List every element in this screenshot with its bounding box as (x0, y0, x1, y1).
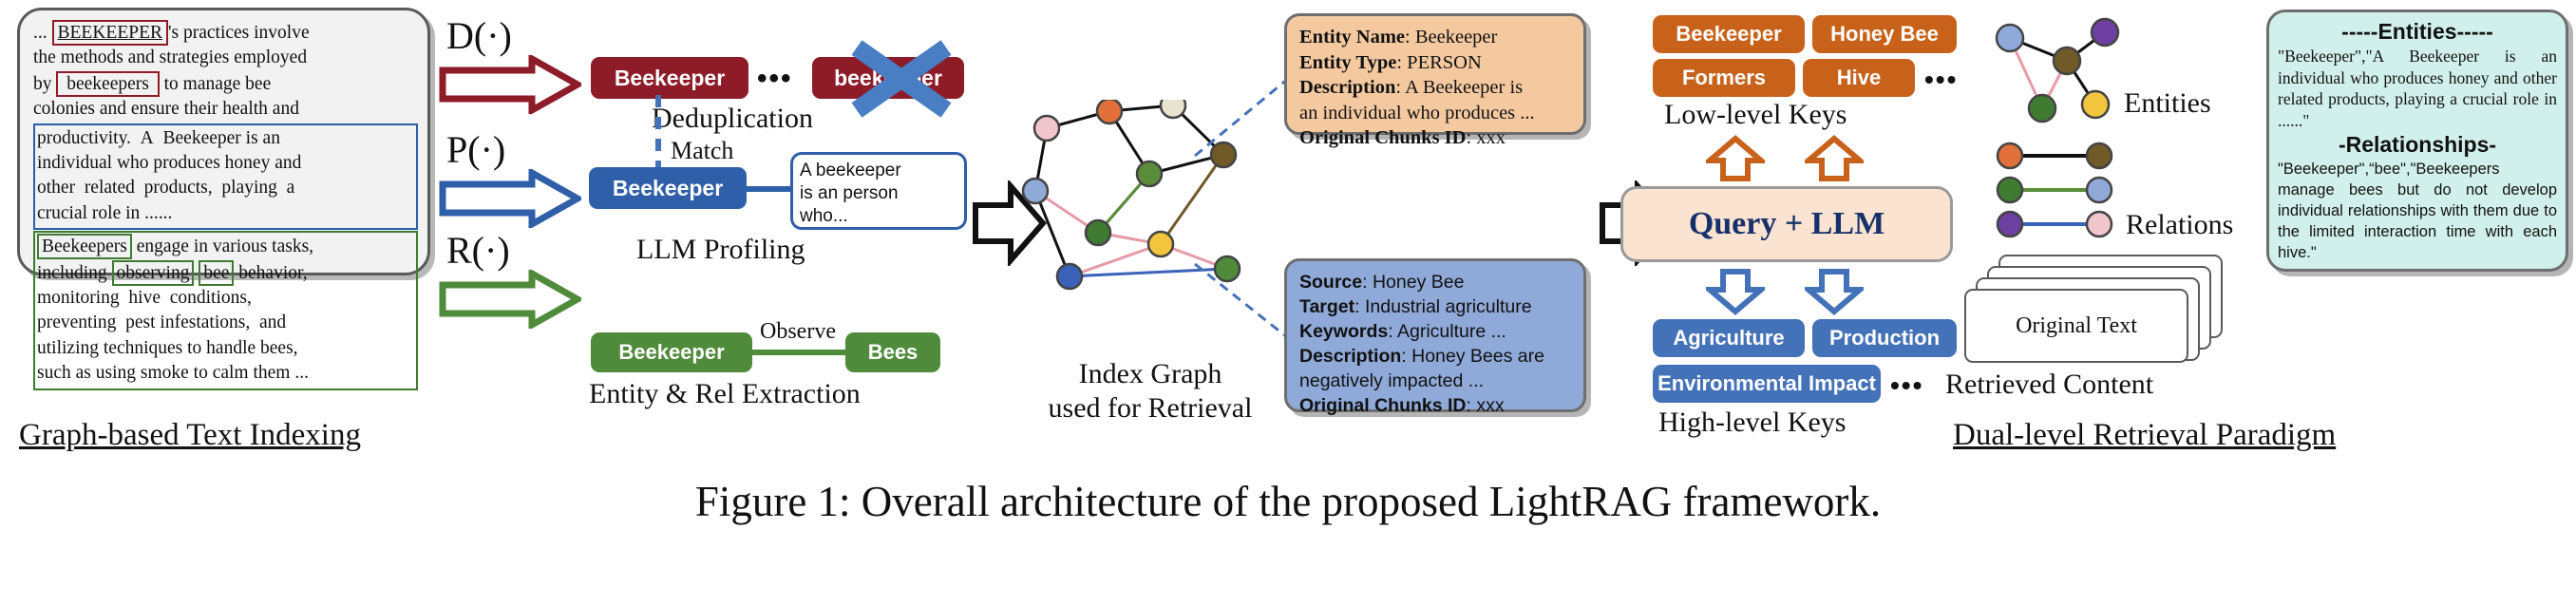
profile-entity: Beekeeper (589, 167, 747, 209)
extract-caption: Entity & Rel Extraction (589, 378, 861, 410)
extract-relation-line (750, 350, 849, 355)
relation-card-value-1: Industrial agriculture (1365, 296, 1532, 317)
extract-arrow-icon (439, 270, 581, 329)
high-level-down-arrow-right-icon (1805, 268, 1864, 315)
extract-target-entity: Bees (845, 332, 940, 372)
entity-card-row-4: Original Chunks ID: xxx (1299, 125, 1571, 151)
source-document-panel: ... BEEKEEPER's practices involve the me… (17, 8, 430, 275)
low-level-up-arrow-left-icon (1706, 135, 1765, 182)
entity-card-value-0: Beekeeper (1415, 27, 1498, 47)
entity-card-key-0: Entity Name (1299, 27, 1405, 47)
profile-line-2: who... (800, 205, 957, 228)
relation-card-row-4: negatively impacted ... (1299, 369, 1571, 393)
profile-line-1: is an person (800, 182, 957, 205)
entity-card-value-4: xxx (1476, 127, 1506, 148)
relation-card-key-2: Keywords (1299, 321, 1388, 342)
extract-relation-label: Observe (760, 319, 836, 345)
result-heading-contexts: ----Contexts---- (2278, 263, 2557, 272)
relation-card-value-2: Agriculture ... (1397, 321, 1506, 342)
low-level-keys-ellipsis: ••• (1924, 65, 1958, 95)
index-graph-caption-line2: used for Retrieval (1013, 391, 1288, 426)
extraction-highlight-region: Beekeepers engage in various tasks, incl… (33, 231, 418, 389)
stage-label-retrieval: Dual-level Retrieval Paradigm (1953, 418, 2336, 453)
result-heading-relationships: -Relationships- (2278, 131, 2557, 159)
relation-card-key-0: Source (1299, 272, 1362, 293)
entity-info-card: Entity Name: Beekeeper Entity Type: PERS… (1284, 13, 1586, 135)
result-heading-entities: -----Entities----- (2278, 18, 2557, 46)
entities-mini-graph (1983, 13, 2135, 137)
relation-card-key-1: Target (1299, 296, 1354, 317)
low-level-key-0[interactable]: Beekeeper (1653, 15, 1805, 53)
high-level-keys-title: High-level Keys (1658, 407, 1846, 439)
query-llm-box[interactable]: Query + LLM (1620, 186, 1953, 262)
figure-caption: Figure 1: Overall architecture of the pr… (0, 477, 2576, 526)
entity-card-row-2: Description: A Beekeeper is (1299, 75, 1571, 101)
relation-card-value-3: Honey Bees are (1411, 346, 1544, 367)
original-text-card: Original Text (1964, 289, 2188, 363)
highlight-beekeeper-upper: BEEKEEPER (52, 20, 169, 46)
relation-card-value-0: Honey Bee (1373, 272, 1464, 293)
profile-caption: LLM Profiling (636, 234, 805, 266)
profile-description-box: A beekeeper is an person who... (790, 152, 967, 230)
dedup-ellipsis: ••• (757, 63, 793, 95)
highlight-bee: bee (199, 260, 234, 286)
highlight-beekeepers-lower: beekeepers (56, 71, 159, 97)
operator-extract-label: R(·) (446, 228, 510, 273)
low-level-key-2[interactable]: Formers (1653, 59, 1795, 97)
dedup-arrow-icon (439, 55, 581, 114)
profile-line-0: A beekeeper (800, 160, 957, 182)
result-body-relationships: "Beekeeper",“bee","Beekeepers manage bee… (2278, 159, 2557, 263)
low-level-key-1[interactable]: Honey Bee (1812, 15, 1957, 53)
result-body-entities: "Beekeeper","A Beekeeper is an individua… (2278, 46, 2557, 131)
profile-arrow-icon (439, 169, 581, 228)
relation-card-row-2: Keywords: Agriculture ... (1299, 319, 1571, 344)
entity-card-key-4: Original Chunks ID (1299, 127, 1466, 148)
relation-card-row-3: Description: Honey Bees are (1299, 344, 1571, 369)
extract-source-entity: Beekeeper (591, 332, 752, 372)
low-level-keys-title: Low-level Keys (1664, 99, 1847, 131)
operator-dedup-label: D(·) (446, 13, 512, 58)
profiling-highlight-region: productivity. A Beekeeper is an individu… (33, 123, 418, 231)
dedup-entity-left: Beekeeper (591, 57, 748, 99)
high-level-key-1[interactable]: Production (1812, 319, 1957, 357)
retrieved-content-caption: Retrieved Content (1945, 369, 2153, 401)
index-graph-caption-line1: Index Graph (1013, 357, 1288, 391)
highlight-observing: observing (112, 260, 195, 286)
entity-card-row-3: an individual who produces ... (1299, 101, 1571, 126)
relations-legend-label: Relations (2126, 209, 2233, 241)
entity-card-row-0: Entity Name: Beekeeper (1299, 25, 1571, 50)
high-level-keys-ellipsis: ••• (1890, 370, 1923, 401)
high-level-key-0[interactable]: Agriculture (1653, 319, 1805, 357)
entity-card-value-1: PERSON (1407, 52, 1482, 73)
entity-card-key-1: Entity Type (1299, 52, 1396, 73)
dedup-caption: Deduplication (652, 103, 813, 135)
relation-card-key-5: Original Chunks ID (1299, 395, 1467, 416)
entity-card-key-2: Description (1299, 77, 1395, 98)
index-graph-caption: Index Graph used for Retrieval (1013, 357, 1288, 426)
match-label: Match (671, 137, 733, 165)
profile-connector-line (745, 186, 794, 192)
relations-mini-graph (1985, 141, 2137, 245)
entity-card-row-1: Entity Type: PERSON (1299, 50, 1571, 76)
relation-card-row-5: Original Chunks ID: xxx (1299, 393, 1571, 418)
stage-label-indexing: Graph-based Text Indexing (19, 418, 361, 453)
entity-card-value-2: A Beekeeper is (1405, 77, 1523, 98)
figure-root: ... BEEKEEPER's practices involve the me… (0, 0, 2576, 606)
low-level-key-3[interactable]: Hive (1803, 59, 1915, 97)
high-level-down-arrow-left-icon (1706, 268, 1765, 315)
relation-card-key-3: Description (1299, 346, 1401, 367)
low-level-up-arrow-right-icon (1805, 135, 1864, 182)
operator-profile-label: P(·) (446, 127, 505, 172)
relation-card-row-1: Target: Industrial agriculture (1299, 294, 1571, 319)
source-document-text: ... BEEKEEPER's practices involve the me… (33, 20, 418, 390)
highlight-beekeepers-green: Beekeepers (37, 234, 132, 259)
relation-card-row-0: Source: Honey Bee (1299, 270, 1571, 294)
entities-legend-label: Entities (2124, 87, 2211, 120)
high-level-key-2[interactable]: Environmental Impact (1653, 365, 1881, 403)
retrieval-result-panel: -----Entities----- "Beekeeper","A Beekee… (2266, 9, 2568, 272)
cross-out-icon (845, 36, 957, 122)
relation-card-value-5: xxx (1476, 395, 1504, 416)
relation-info-card: Source: Honey Bee Target: Industrial agr… (1284, 258, 1586, 412)
